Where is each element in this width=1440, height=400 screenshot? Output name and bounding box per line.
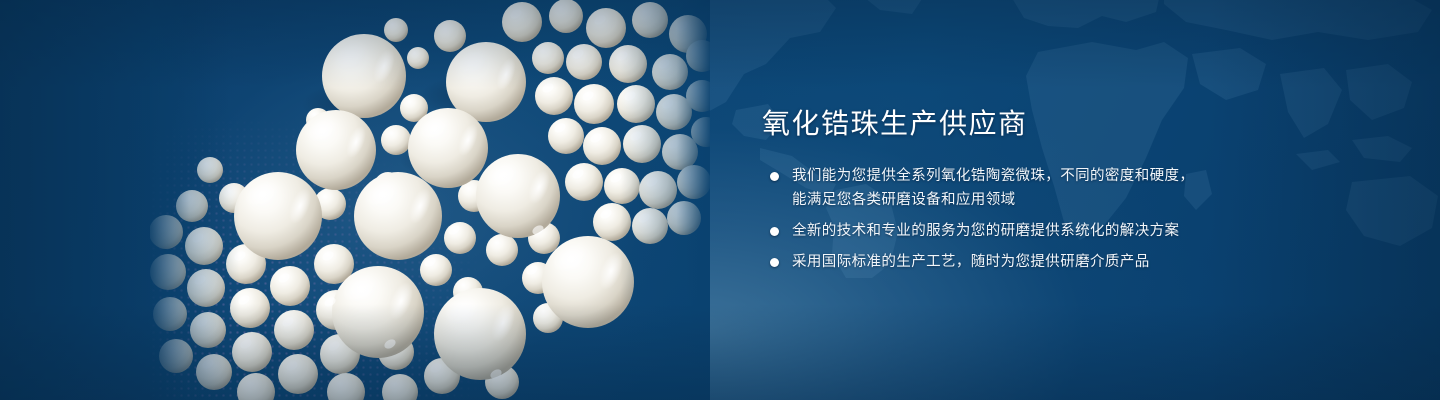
ceramic-bead-cluster <box>150 0 710 400</box>
list-item: 我们能为您提供全系列氧化锆陶瓷微珠，不同的密度和硬度， 能满足您各类研磨设备和应… <box>762 164 1362 212</box>
bullet-dot-icon <box>770 258 779 267</box>
list-item: 采用国际标准的生产工艺，随时为您提供研磨介质产品 <box>762 250 1362 274</box>
banner-headline: 氧化锆珠生产供应商 <box>762 104 1362 144</box>
bullet-dot-icon <box>770 172 779 181</box>
bullet-text-continuation: 能满足您各类研磨设备和应用领域 <box>792 188 1362 212</box>
bullet-text: 我们能为您提供全系列氧化锆陶瓷微珠，不同的密度和硬度， <box>792 164 1362 188</box>
banner-content: 氧化锆珠生产供应商 我们能为您提供全系列氧化锆陶瓷微珠，不同的密度和硬度， 能满… <box>762 104 1362 274</box>
bullet-dot-icon <box>770 227 779 236</box>
bullet-text: 全新的技术和专业的服务为您的研磨提供系统化的解决方案 <box>792 219 1362 243</box>
bullet-text: 采用国际标准的生产工艺，随时为您提供研磨介质产品 <box>792 250 1362 274</box>
zirconia-beads-photo <box>150 0 710 400</box>
feature-bullet-list: 我们能为您提供全系列氧化锆陶瓷微珠，不同的密度和硬度， 能满足您各类研磨设备和应… <box>762 164 1362 274</box>
list-item: 全新的技术和专业的服务为您的研磨提供系统化的解决方案 <box>762 219 1362 243</box>
promotional-banner: 氧化锆珠生产供应商 我们能为您提供全系列氧化锆陶瓷微珠，不同的密度和硬度， 能满… <box>0 0 1440 400</box>
